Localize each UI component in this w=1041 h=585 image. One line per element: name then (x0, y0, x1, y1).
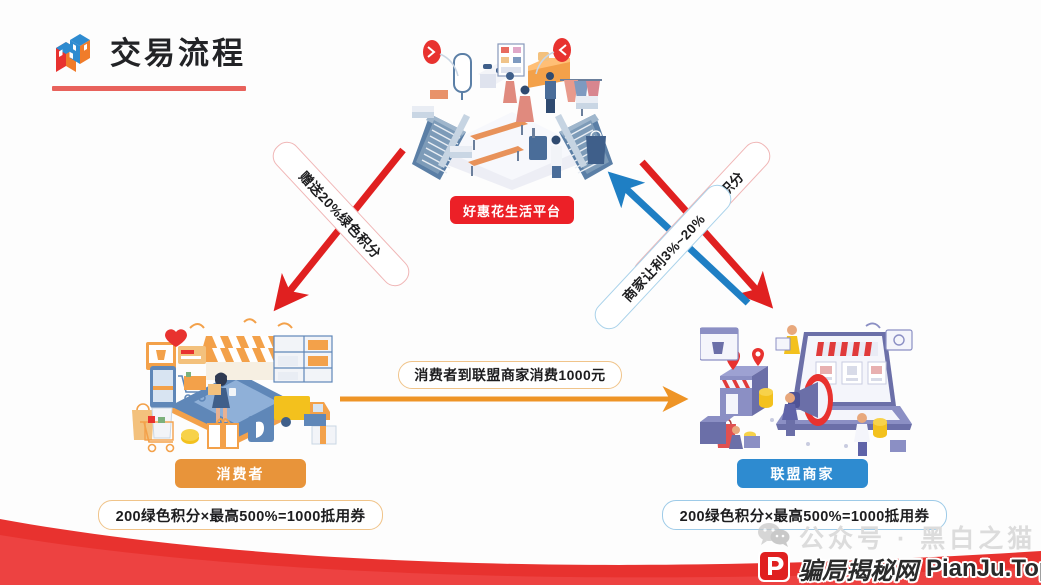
flow-label-platform-to-consumer: 赠送20%绿色积分 (267, 136, 414, 291)
platform-illustration (410, 28, 615, 195)
flow-label-merchant-to-platform: 商家让利3%~20% (589, 179, 736, 334)
slide-canvas: 交易流程 (0, 0, 1041, 585)
site-name-en: PianJu.Top (926, 555, 1041, 583)
isometric-h-cube-logo-icon (52, 32, 96, 76)
consumer-node-badge[interactable]: 消费者 (175, 459, 306, 488)
flow-label-consumer-to-merchant: 消费者到联盟商家消费1000元 (398, 361, 622, 389)
page-title: 交易流程 (110, 32, 246, 76)
site-watermark: 骗局揭秘网 PianJu.Top (757, 549, 1041, 585)
platform-node-badge[interactable]: 好惠花生活平台 (450, 196, 574, 224)
title-underline (52, 86, 246, 91)
consumer-illustration (128, 318, 343, 463)
merchant-illustration (700, 322, 913, 465)
slide-header: 交易流程 (52, 32, 246, 76)
site-name-cn: 骗局揭秘网 (798, 551, 918, 585)
p-square-logo-icon (757, 549, 791, 585)
merchant-node-badge[interactable]: 联盟商家 (737, 459, 868, 488)
